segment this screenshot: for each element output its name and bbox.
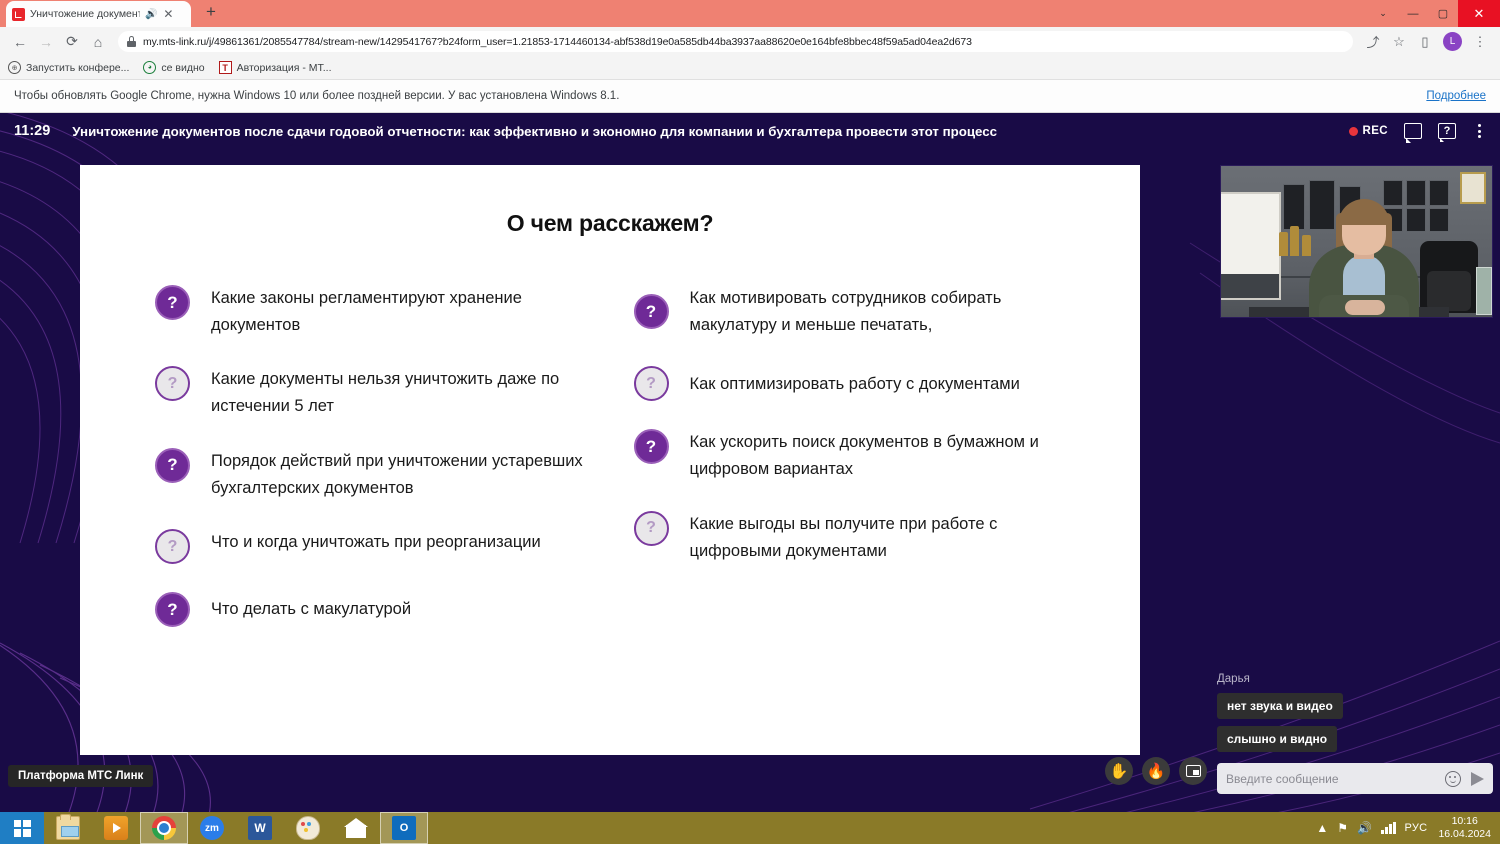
webinar-header: 11:29 Уничтожение документов после сдачи… xyxy=(0,113,1500,149)
home-icon xyxy=(344,816,368,840)
session-timer: 11:29 xyxy=(14,123,50,139)
home-icon[interactable]: ⌂ xyxy=(86,30,110,54)
taskbar-item-paint[interactable] xyxy=(284,812,332,844)
profile-avatar[interactable]: L xyxy=(1443,32,1462,51)
screen: Уничтожение документов п 🔊 ✕ + ⌄ — ▢ ✕ ←… xyxy=(0,0,1500,844)
url-text: my.mts-link.ru/j/49861361/2085547784/str… xyxy=(143,36,972,48)
bullet-item: ? Как мотивировать сотрудников собирать … xyxy=(634,283,1081,338)
bullet-icon-wrap: ? xyxy=(155,446,193,483)
record-dot-icon xyxy=(1349,127,1358,136)
presenter-figure xyxy=(1309,199,1419,317)
share-icon[interactable]: ⤴ xyxy=(1361,30,1385,54)
file-explorer-icon xyxy=(56,816,80,840)
taskbar-item-google-chrome[interactable] xyxy=(140,812,188,844)
windows-taskbar: zm W O ▲ ⚑ 🔊 РУС 10:16 16.04.2024 xyxy=(0,812,1500,844)
chat-input[interactable] xyxy=(1226,772,1445,786)
forward-icon[interactable]: → xyxy=(34,30,58,54)
question-mark-icon: ? xyxy=(155,592,190,627)
bullet-item: ? Как оптимизировать работу с документам… xyxy=(634,364,1081,401)
taskbar-apps: zm W O xyxy=(44,812,428,844)
bullet-text: Порядок действий при уничтожении устарев… xyxy=(211,446,602,501)
chrome-update-infobar: Чтобы обновлять Google Chrome, нужна Win… xyxy=(0,80,1500,113)
bullet-text: Какие выгоды вы получите при работе с ци… xyxy=(690,509,1081,564)
bullet-text: Какие документы нельзя уничтожить даже п… xyxy=(211,364,602,419)
bookmarks-bar: ⊕ Запустить конфере... ◕ се видно T Авто… xyxy=(0,56,1500,80)
smiley-icon[interactable] xyxy=(1445,771,1461,787)
question-mark-icon: ? xyxy=(155,285,190,320)
word-icon: W xyxy=(248,816,272,840)
back-icon[interactable]: ← xyxy=(8,30,32,54)
notification-flag-icon[interactable]: ⚑ xyxy=(1337,822,1348,834)
webinar-stage: 11:29 Уничтожение документов после сдачи… xyxy=(0,113,1500,812)
bullet-item: ? Порядок действий при уничтожении устар… xyxy=(155,446,602,501)
webinar-header-actions: REC ? xyxy=(1349,122,1486,140)
send-icon[interactable] xyxy=(1471,772,1484,786)
recording-label: REC xyxy=(1363,125,1388,137)
clock-date[interactable]: 10:16 16.04.2024 xyxy=(1438,815,1491,841)
bullet-item: ? Какие законы регламентируют хранение д… xyxy=(155,283,602,338)
presenter-video-tile[interactable] xyxy=(1220,165,1493,318)
taskbar-item-outlook[interactable]: O xyxy=(380,812,428,844)
question-mark-icon: ? xyxy=(634,511,669,546)
question-mark-icon: ? xyxy=(634,366,669,401)
question-mark-icon: ? xyxy=(155,366,190,401)
system-tray: ▲ ⚑ 🔊 РУС 10:16 16.04.2024 xyxy=(1316,812,1500,844)
chrome-icon xyxy=(152,816,176,840)
bullet-icon-wrap: ? xyxy=(155,364,193,401)
question-mark-icon: ? xyxy=(634,294,669,329)
start-button[interactable] xyxy=(0,812,44,844)
infobar-learn-more-link[interactable]: Подробнее xyxy=(1426,90,1486,102)
framed-certificate xyxy=(1460,172,1486,204)
slide-left-column: ? Какие законы регламентируют хранение д… xyxy=(155,283,602,653)
bookmark-item[interactable]: ⊕ Запустить конфере... xyxy=(8,61,129,74)
taskbar-item-word[interactable]: W xyxy=(236,812,284,844)
bullet-item: ? Какие документы нельзя уничтожить даже… xyxy=(155,364,602,419)
chat-input-row[interactable] xyxy=(1217,763,1493,794)
bullet-text: Как ускорить поиск документов в бумажном… xyxy=(690,427,1081,482)
browser-tab-strip: Уничтожение документов п 🔊 ✕ + ⌄ — ▢ ✕ xyxy=(0,0,1500,27)
speaker-icon[interactable]: 🔊 xyxy=(145,9,156,20)
taskbar-item-zoom[interactable]: zm xyxy=(188,812,236,844)
flame-icon: 🔥 xyxy=(1147,764,1166,779)
question-mark-icon: ? xyxy=(155,448,190,483)
recording-indicator[interactable]: REC xyxy=(1349,125,1388,137)
platform-tooltip: Платформа МТС Линк xyxy=(8,765,153,787)
tray-time: 10:16 xyxy=(1452,815,1478,827)
taskbar-item-home[interactable] xyxy=(332,812,380,844)
presentation-slide[interactable]: О чем расскажем? ? Какие законы регламен… xyxy=(80,165,1140,755)
chat-icon[interactable] xyxy=(1404,123,1422,139)
layout-button[interactable] xyxy=(1179,757,1207,785)
lock-icon xyxy=(127,36,136,47)
language-indicator[interactable]: РУС xyxy=(1405,822,1428,834)
bullet-icon-wrap: ? xyxy=(634,292,672,329)
volume-icon[interactable]: 🔊 xyxy=(1357,822,1372,834)
question-mark-icon: ? xyxy=(634,429,669,464)
bookmark-item[interactable]: T Авторизация - МТ... xyxy=(219,61,332,74)
close-icon[interactable]: ✕ xyxy=(161,8,175,20)
expand-tray-icon[interactable]: ▲ xyxy=(1316,822,1328,834)
window-controls: ⌄ — ▢ ✕ xyxy=(1368,0,1500,27)
maximize-button[interactable]: ▢ xyxy=(1428,0,1458,27)
bullet-icon-wrap: ? xyxy=(155,527,193,564)
infobar-message: Чтобы обновлять Google Chrome, нужна Win… xyxy=(14,90,619,102)
taskbar-item-file-explorer[interactable] xyxy=(44,812,92,844)
media-player-icon xyxy=(104,816,128,840)
water-cooler xyxy=(1476,267,1492,315)
bullet-text: Как мотивировать сотрудников собирать ма… xyxy=(690,283,1081,338)
bullet-item: ? Что делать с макулатурой xyxy=(155,590,602,627)
bullet-item: ? Что и когда уничтожать при реорганизац… xyxy=(155,527,602,564)
office-chair xyxy=(1420,241,1478,313)
raise-hand-button[interactable]: ✋ xyxy=(1105,757,1133,785)
bookmark-label: се видно xyxy=(161,62,204,74)
minimize-button[interactable]: — xyxy=(1398,0,1428,27)
hand-icon: ✋ xyxy=(1110,764,1129,779)
reaction-flame-button[interactable]: 🔥 xyxy=(1142,757,1170,785)
paint-icon xyxy=(296,816,320,840)
chat-panel: Дарья нет звука и видео слышно и видно xyxy=(1217,673,1493,794)
window-close-button[interactable]: ✕ xyxy=(1458,0,1500,27)
slide-right-column: ? Как мотивировать сотрудников собирать … xyxy=(634,283,1081,653)
bullet-item: ? Какие выгоды вы получите при работе с … xyxy=(634,509,1081,564)
bookmark-item[interactable]: ◕ се видно xyxy=(143,61,204,74)
slide-title: О чем расскажем? xyxy=(80,210,1140,237)
chat-message: нет звука и видео xyxy=(1217,693,1343,719)
bookmark-label: Запустить конфере... xyxy=(26,62,129,74)
network-signal-icon[interactable] xyxy=(1381,822,1396,834)
chat-message: слышно и видно xyxy=(1217,726,1337,752)
bullet-text: Что делать с макулатурой xyxy=(211,594,602,623)
stage-controls: ✋ 🔥 xyxy=(1105,757,1207,785)
tray-date: 16.04.2024 xyxy=(1438,828,1491,840)
bullet-text: Какие законы регламентируют хранение док… xyxy=(211,283,602,338)
browser-toolbar: ← → ⟳ ⌂ my.mts-link.ru/j/49861361/208554… xyxy=(0,27,1500,56)
bullet-icon-wrap: ? xyxy=(634,364,672,401)
windows-logo-icon xyxy=(14,820,31,837)
side-panel-icon[interactable]: ▯ xyxy=(1413,30,1437,54)
reload-icon[interactable]: ⟳ xyxy=(60,30,84,54)
bullet-text: Что и когда уничтожать при реорганизации xyxy=(211,527,602,556)
bullet-icon-wrap: ? xyxy=(634,427,672,464)
tab-title: Уничтожение документов п xyxy=(30,8,140,20)
bullet-item: ? Как ускорить поиск документов в бумажн… xyxy=(634,427,1081,482)
outlook-icon: O xyxy=(392,816,416,840)
chat-message-author: Дарья xyxy=(1217,673,1493,685)
new-tab-button[interactable]: + xyxy=(201,3,221,23)
tab-search-chevron-icon[interactable]: ⌄ xyxy=(1368,0,1398,27)
kebab-menu-icon[interactable] xyxy=(1472,122,1486,140)
bookmark-label: Авторизация - МТ... xyxy=(237,62,332,74)
address-bar[interactable]: my.mts-link.ru/j/49861361/2085547784/str… xyxy=(118,31,1353,52)
taskbar-item-media-player[interactable] xyxy=(92,812,140,844)
slide-bullet-columns: ? Какие законы регламентируют хранение д… xyxy=(80,283,1140,653)
bullet-icon-wrap: ? xyxy=(155,283,193,320)
zoom-icon: zm xyxy=(200,816,224,840)
mts-icon: T xyxy=(219,61,232,74)
bookmark-star-icon[interactable]: ☆ xyxy=(1387,30,1411,54)
globe-icon: ⊕ xyxy=(8,61,21,74)
bullet-text: Как оптимизировать работу с документами xyxy=(690,369,1081,398)
browser-menu-icon[interactable]: ⋮ xyxy=(1468,30,1492,54)
webinar-title: Уничтожение документов после сдачи годов… xyxy=(72,124,1348,139)
layout-icon xyxy=(1186,765,1201,777)
bullet-icon-wrap: ? xyxy=(634,509,672,546)
whiteboard-object xyxy=(1220,192,1281,300)
bullet-icon-wrap: ? xyxy=(155,590,193,627)
browser-tab[interactable]: Уничтожение документов п 🔊 ✕ xyxy=(6,1,191,27)
question-mark-icon: ? xyxy=(155,529,190,564)
mts-link-favicon-icon xyxy=(12,8,25,21)
clock-icon: ◕ xyxy=(143,61,156,74)
help-icon[interactable]: ? xyxy=(1438,123,1456,139)
